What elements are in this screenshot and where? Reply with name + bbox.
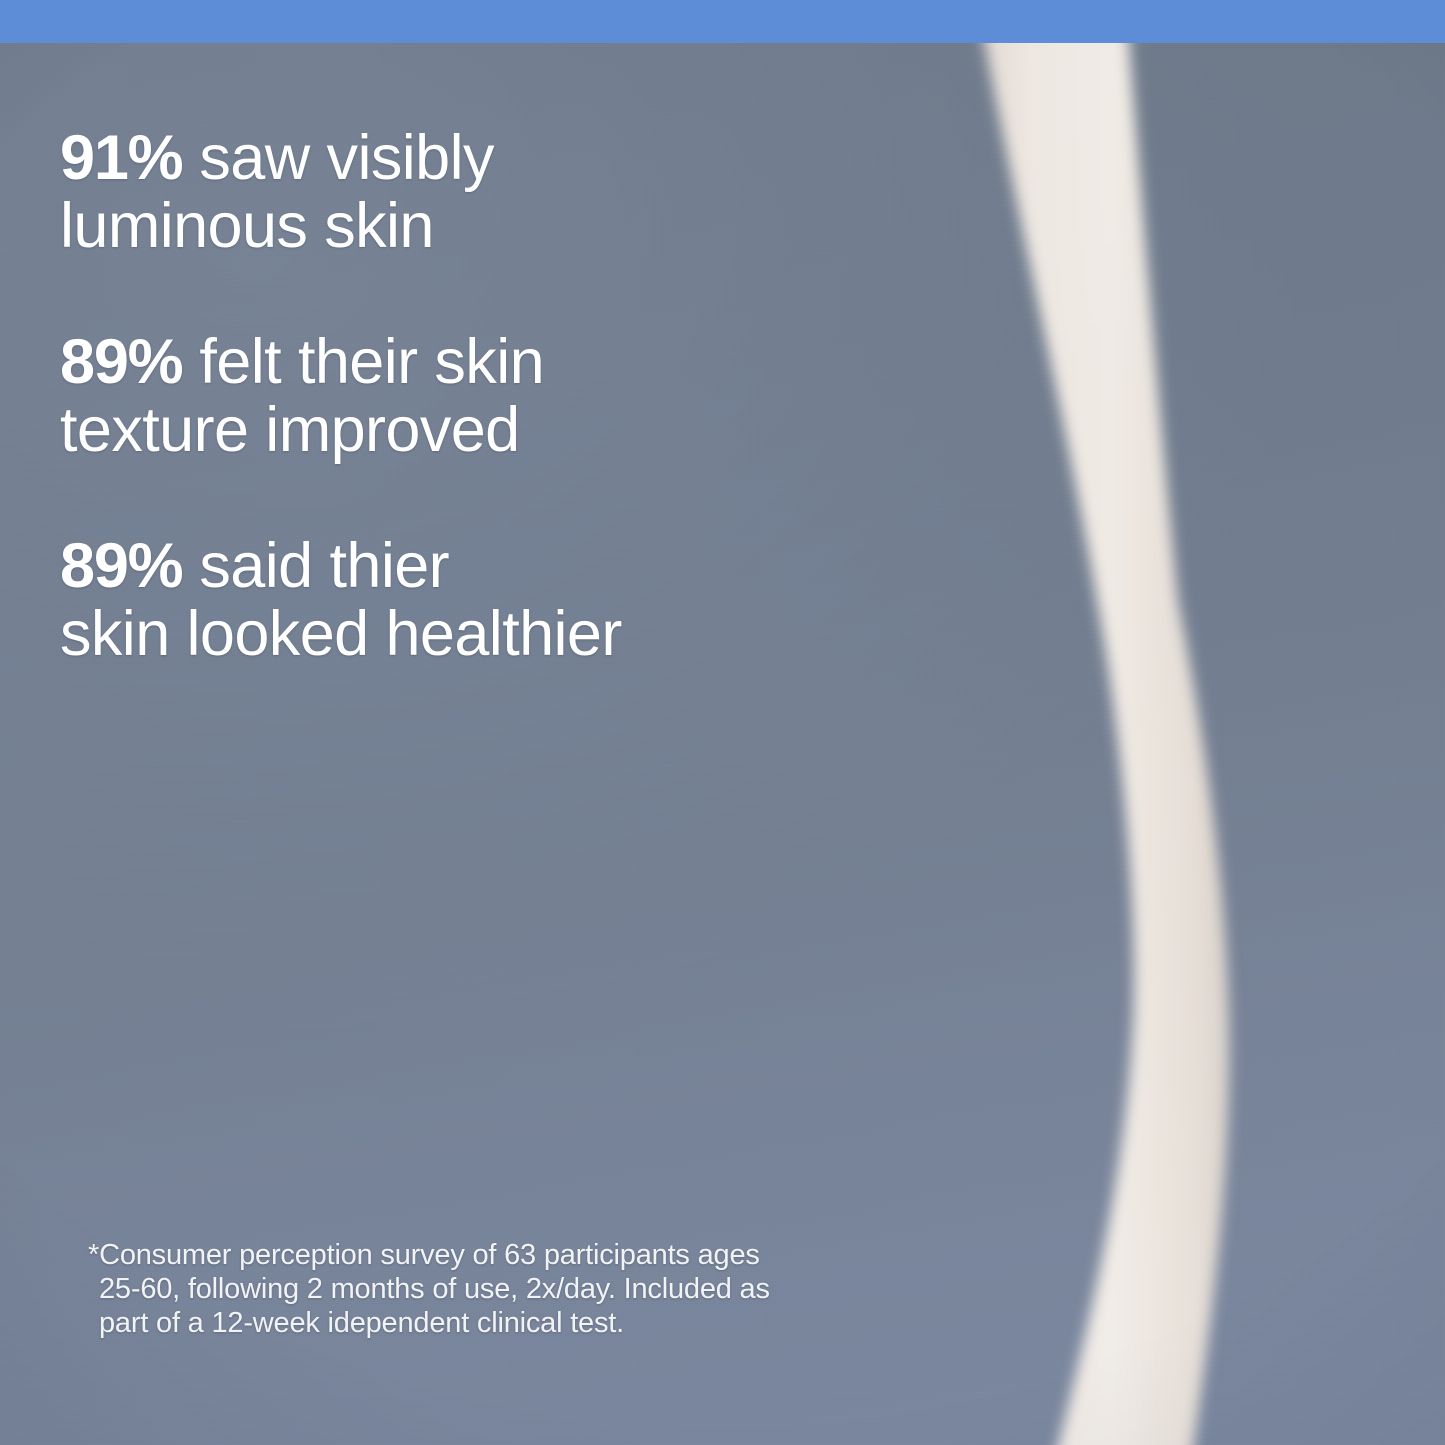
claim-text: said thier (183, 531, 450, 601)
claim-percent: 89% (60, 531, 183, 601)
claim-line-2: skin looked healthier (60, 600, 920, 668)
claim-line-1: 89% felt their skin (60, 328, 920, 396)
claim-item: 91% saw visibly luminous skin (60, 124, 920, 260)
footnote-line-2: 25-60, following 2 months of use, 2x/day… (88, 1272, 888, 1306)
footnote-line-1: *Consumer perception survey of 63 partic… (88, 1238, 888, 1272)
claim-line-1: 89% said thier (60, 532, 920, 600)
claim-text: felt their skin (183, 327, 545, 397)
claim-percent: 91% (60, 123, 183, 193)
claim-item: 89% said thier skin looked healthier (60, 532, 920, 668)
study-footnote: *Consumer perception survey of 63 partic… (88, 1238, 888, 1340)
footnote-line-3: part of a 12-week idependent clinical te… (88, 1306, 888, 1340)
claim-text: saw visibly (183, 123, 494, 193)
claims-list: 91% saw visibly luminous skin 89% felt t… (60, 124, 920, 736)
product-claims-graphic: 91% saw visibly luminous skin 89% felt t… (0, 0, 1445, 1445)
claim-item: 89% felt their skin texture improved (60, 328, 920, 464)
claim-line-2: texture improved (60, 396, 920, 464)
claim-percent: 89% (60, 327, 183, 397)
claim-line-1: 91% saw visibly (60, 124, 920, 192)
blue-accent-band (0, 0, 1445, 43)
claim-line-2: luminous skin (60, 192, 920, 260)
